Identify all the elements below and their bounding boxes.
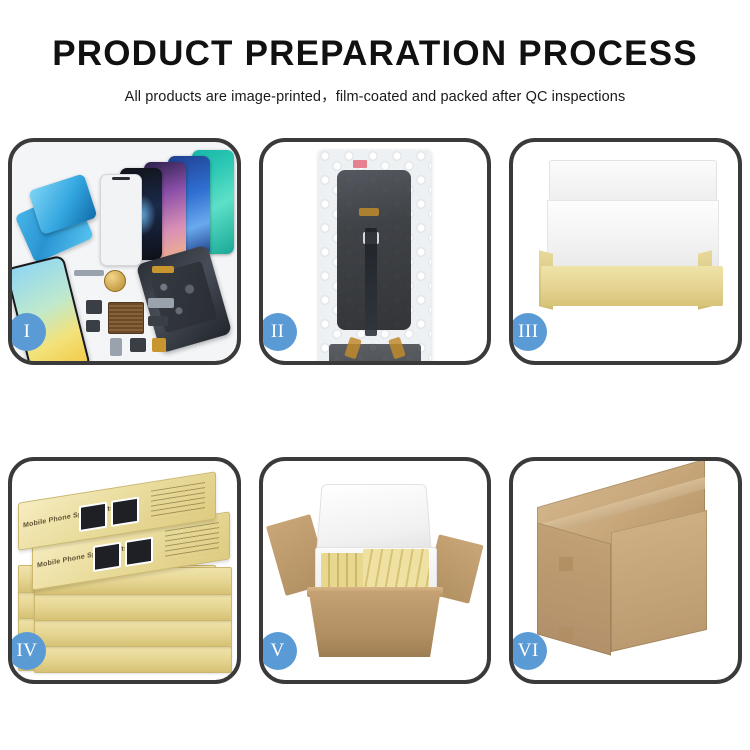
carton-right-face xyxy=(611,510,707,652)
part-module-b xyxy=(86,320,100,332)
phone-lineup xyxy=(100,148,237,256)
flex-cable xyxy=(365,228,377,336)
box-spec-text-upper xyxy=(151,482,205,521)
box-art-screen-lower-b xyxy=(125,537,153,567)
page-header: PRODUCT PREPARATION PROCESS All products… xyxy=(0,0,750,125)
carton-left-face xyxy=(537,522,611,655)
part-module-c xyxy=(148,298,174,308)
part-sensor xyxy=(152,338,166,352)
box-art-screen-lower-a xyxy=(93,542,121,572)
box-layer-5b xyxy=(34,645,232,673)
process-step-panel-6[interactable]: VI xyxy=(509,457,742,684)
carton-seam-upper xyxy=(559,557,573,571)
step-badge-4: IV xyxy=(8,632,46,670)
box-stack: Mobile Phone Spare Parts Mobile Phone Sp… xyxy=(18,475,233,671)
carton-front-panel xyxy=(309,591,441,657)
box-layer-3b xyxy=(34,593,232,621)
speaker-component xyxy=(104,270,126,292)
carton-seam-lower xyxy=(559,627,573,641)
process-step-grid: I II III xyxy=(8,138,742,684)
foam-lid xyxy=(316,484,432,553)
part-module-a xyxy=(86,300,102,314)
box-art-screen-upper-b xyxy=(111,497,139,527)
box-front-panel xyxy=(541,266,723,306)
process-step-panel-2[interactable]: II xyxy=(259,138,492,365)
box-art-screen-upper-a xyxy=(79,502,107,532)
step-badge-2: II xyxy=(259,313,297,351)
foam-padding xyxy=(547,200,719,272)
qc-label xyxy=(353,160,367,168)
step-badge-5: V xyxy=(259,632,297,670)
photo-sealed-shipping-carton xyxy=(513,461,738,680)
box-layer-4b xyxy=(34,619,232,647)
process-step-panel-1[interactable]: I xyxy=(8,138,241,365)
chip-component xyxy=(108,302,144,334)
page-title: PRODUCT PREPARATION PROCESS xyxy=(0,0,750,71)
part-connector xyxy=(74,270,104,276)
part-camera xyxy=(130,338,146,352)
photo-open-yellow-box-with-foam xyxy=(513,142,738,361)
lcd-bottom-edge xyxy=(329,344,421,361)
process-step-panel-4[interactable]: Mobile Phone Spare Parts Mobile Phone Sp… xyxy=(8,457,241,684)
box-spec-text-lower xyxy=(165,522,219,561)
bubble-wrap-bag xyxy=(319,150,431,361)
page-subtitle: All products are image-printed，film-coat… xyxy=(0,71,750,106)
flex-contact-top xyxy=(359,208,379,216)
part-sim-tray xyxy=(110,338,122,356)
process-step-panel-5[interactable]: V xyxy=(259,457,492,684)
process-step-panel-3[interactable]: III xyxy=(509,138,742,365)
part-flex-cable xyxy=(152,266,174,273)
step-badge-1: I xyxy=(8,313,46,351)
part-module-d xyxy=(148,316,168,326)
